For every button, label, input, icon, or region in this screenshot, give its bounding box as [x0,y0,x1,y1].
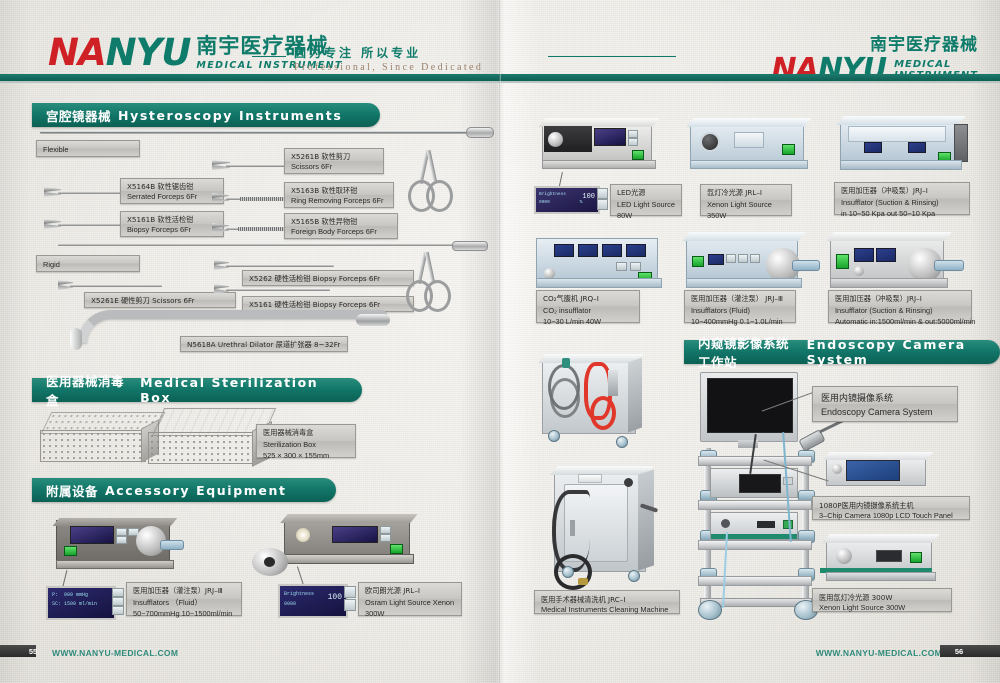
light-guide-connector [252,548,288,576]
spec-line: X5262 硬性活检钳 Biopsy Forceps 6Fr [249,274,407,284]
spec-size: 525 × 300 × 155mm [263,450,349,461]
spec-en: CO₂ insufflator [543,305,633,316]
section-title-en: Accessory Equipment [105,483,287,498]
device-1080p-camera [820,448,940,492]
device-xenon-300w [820,528,946,586]
spec-en: Ring Removing Forceps 6Fr [291,196,387,207]
spec-detail: 10~30 L/min 40W [543,316,633,327]
sterilization-box-closed [40,412,160,468]
spec-plate-suction-rinsing: 医用加压器（冲吸泵）JRJ–Ⅰ Insufflator (Suction & R… [834,182,970,215]
spec-en: Insufflator (Suction & Rinsing) [841,197,963,208]
spec-plate-cleaning-machine: 医用手术器械清洗机 JRC–Ⅰ Medical Instruments Clea… [534,590,680,614]
spec-detail: 350W [707,210,785,221]
section-title-en: Hysteroscopy Instruments [118,108,342,123]
spec-cn: LED光源 [617,188,675,199]
cart-light-source-unit [710,512,798,540]
display-label: Brightness [539,192,566,197]
slogan-rule-right [548,56,676,57]
spec-plate-osram: 欧司朗光源 JRL–Ⅰ Osram Light Source Xenon 300… [358,582,462,616]
footer-url-left[interactable]: WWW.NANYU-MEDICAL.COM [52,648,178,658]
spec-plate-accessory-insufflator: 医用加压器（灌注泵）JRJ–Ⅲ Insufflators （Fluid） 50~… [126,582,242,616]
spec-en: Medical Instruments Cleaning Machine [541,605,673,616]
spec-plate-auto-suction: 医用加压器（冲吸泵）JRJ–Ⅰ Insufflator (Suction & R… [828,290,972,323]
group-label-flexible-text: Flexible [43,145,133,156]
spec-plate-x5163b: X5163B 软性取环钳 Ring Removing Forceps 6Fr [284,182,394,208]
spec-plate-x5164b: X5164B 软性锯齿钳 Serrated Forceps 6Fr [120,178,224,204]
spec-cn: 氙灯冷光源 JRL–Ⅰ [707,188,785,199]
spec-en: Endoscopy Camera System [821,406,949,419]
device-co2-insufflator [530,228,670,292]
spec-cn: X5164B 软性锯齿钳 [127,182,217,192]
spec-detail: 10~400mmHg 0.1~1.0L/min [691,316,789,327]
spec-plate-1080p: 1080P医用内镜摄像系统主机 3–Chip Camera 1080p LCD … [812,496,970,520]
section-banner-sterilization: 医用器械消毒盒 Medical Sterilization Box [32,378,362,402]
slogan-block: 因为专注 所以专业 Professional, Since Dedicated [258,44,678,73]
slogan-cn: 因为专注 所以专业 [294,44,678,61]
display-value: 100 [582,191,595,204]
device-auto-suction-rinsing [824,226,976,292]
spec-cn: 医用内镜摄像系统 [821,393,949,406]
spec-cn: 医用加压器（冲吸泵）JRJ–Ⅰ [841,186,963,197]
section-banner-accessory: 附属设备 Accessory Equipment [32,478,336,502]
page-number-right: 56 [948,645,970,657]
section-banner-camera-system: 内窥镜影像系统工作站 Endoscopy Camera System [684,340,1000,364]
footer-url-right[interactable]: WWW.NANYU-MEDICAL.COM [816,648,942,658]
brand-name-cn-right: 南宇医疗器械 [870,30,978,55]
device-insufflator-fluid-right [680,226,830,292]
spec-cn: CO₂气腹机 JRQ–Ⅰ [543,294,633,305]
section-title-cn: 医用器械消毒盒 [46,371,133,409]
display-panel-osram: Brightness 100 0000 [278,584,348,618]
ring-handle-forceps-bottom [398,252,454,320]
spec-detail: 300W [365,608,455,619]
page-number-left: 55 [22,645,44,657]
section-title-cn: 宫腔镜器械 [46,106,111,125]
display-unit: % [580,199,583,207]
section-banner-hysteroscopy: 宫腔镜器械 Hysteroscopy Instruments [32,103,380,127]
group-label-rigid-text: Rigid [43,260,133,271]
spec-cn: 医用器械消毒盒 [263,428,349,439]
spec-cn: 欧司朗光源 JRL–Ⅰ [365,586,455,597]
slogan-rule-left [252,56,286,57]
section-title-cn: 附属设备 [46,481,98,500]
spec-cn: 医用氙灯冷光源 300W [819,593,945,603]
group-label-rigid: Rigid [36,255,140,272]
display-buttons-led [597,188,606,209]
spec-cn: X5261B 软性剪刀 [291,152,377,162]
spec-plate-fluid-insufflator: 医用加压器（灌注泵） JRJ–Ⅲ Insufflators (Fluid) 10… [684,290,796,323]
spec-en: Foreign Body Forceps 6Fr [291,227,391,238]
display-value: 100 [328,590,342,605]
display-buttons-1 [112,588,122,614]
display-panel-led: Brightness 100 0000 % [534,186,600,214]
spec-plate-led: LED光源 LED Light Source 80W [610,184,682,216]
spec-cn: 医用加压器（灌注泵） JRJ–Ⅲ [691,294,789,305]
spec-detail: 80W [617,210,675,221]
spec-detail: 50~700mmHg 10~1500ml/min [133,608,235,619]
spec-en: Insufflator (Suction & Rinsing) [835,305,965,316]
spec-en: LED Light Source [617,199,675,210]
page-gutter [499,0,501,683]
spec-cn: X5163B 软性取环钳 [291,186,387,196]
spec-en: Osram Light Source Xenon [365,597,455,608]
spec-line: X5261E 硬性剪刀 Scissors 6Fr [91,296,229,306]
flexible-scope-handle [466,127,494,138]
spec-cn: 医用加压器（冲吸泵）JRJ–Ⅰ [835,294,965,305]
spec-plate-co2: CO₂气腹机 JRQ–Ⅰ CO₂ insufflator 10~30 L/min… [536,290,640,323]
spec-line: N5618A Urethral Dilator 尿道扩张器 8~32Fr [187,340,341,350]
spec-plate-x5261b: X5261B 软性剪刀 Scissors 6Fr [284,148,384,174]
spec-plate-xenon-300w: 医用氙灯冷光源 300W Xenon Light Source 300W [812,588,952,612]
cleaning-machine-upper [532,352,652,452]
device-insufflator-suction-rinsing [834,110,968,174]
spec-en: Scissors 6Fr [291,162,377,173]
spec-cn: 医用加压器（灌注泵）JRJ–Ⅲ [133,586,235,597]
spec-plate-x5261e: X5261E 硬性剪刀 Scissors 6Fr [84,292,236,308]
section-title-en: Medical Sterilization Box [140,375,346,405]
spec-plate-camera-system: 医用内镜摄像系统 Endoscopy Camera System [812,386,958,422]
section-title-cn: 内窥镜影像系统工作站 [698,333,800,371]
spec-plate-sterilization-box: 医用器械消毒盒 Sterilization Box 525 × 300 × 15… [256,424,356,458]
device-led-light-source [536,112,660,174]
spec-plate-x5165b: X5165B 软性异物钳 Foreign Body Forceps 6Fr [284,213,398,239]
spec-cn: 1080P医用内镜摄像系统主机 [819,501,963,511]
ring-handle-forceps-top [400,150,456,220]
page-footer: 55 WWW.NANYU-MEDICAL.COM WWW.NANYU-MEDIC… [0,633,1000,683]
spec-en: Serrated Forceps 6Fr [127,192,217,203]
brand-sub-line1: MEDICAL [894,59,978,71]
spec-plate-xenon: 氙灯冷光源 JRL–Ⅰ Xenon Light Source 350W [700,184,792,216]
spec-detail: in 10~50 Kpa out 50~10 Kpa [841,208,963,219]
spec-plate-dilator: N5618A Urethral Dilator 尿道扩张器 8~32Fr [180,336,348,352]
spec-cn: X5161B 软性活检钳 [127,215,217,225]
section-title-en: Endoscopy Camera System [807,337,984,367]
spec-en: Xenon Light Source 300W [819,603,945,614]
spec-detail: Automatic in:1500ml/min & out:5000ml/min [835,316,965,327]
device-insufflator-fluid [48,512,180,574]
cleaning-machine-lower [548,462,678,590]
brand-wordmark: NANYU [48,34,190,71]
spec-en: Sterilization Box [263,439,349,450]
device-xenon-light-source [684,112,812,174]
spec-plate-x5161b: X5161B 软性活检钳 Biopsy Forceps 6Fr [120,211,224,237]
spec-en: Xenon Light Source [707,199,785,210]
spec-en: 3–Chip Camera 1080p LCD Touch Panel [819,511,963,522]
device-osram-light-source [278,508,418,570]
spec-en: Insufflators (Fluid) [691,305,789,316]
spec-en: Insufflators （Fluid） [133,597,235,608]
spec-en: Biopsy Forceps 6Fr [127,225,217,236]
spec-plate-x5262: X5262 硬性活检钳 Biopsy Forceps 6Fr [242,270,414,286]
flexible-scope-shaft [40,131,472,134]
display-buttons-2 [344,586,354,612]
display-label: Brightness [284,591,314,597]
spec-cn: 医用手术器械清洗机 JRC–Ⅰ [541,595,673,605]
spec-cn: X5165B 软性异物钳 [291,217,391,227]
rigid-scope-shaft [58,244,458,246]
display-panel-insufflator: P: 000 mmHgSC: 1500 ml/min [46,586,116,620]
rigid-scope-handle [452,241,488,251]
catalog-spread: NANYU 南宇医疗器械 MEDICAL INSTRUMENT 因为专注 所以专… [0,0,1000,683]
slogan-en: Professional, Since Dedicated [294,62,678,73]
group-label-flexible: Flexible [36,140,140,157]
